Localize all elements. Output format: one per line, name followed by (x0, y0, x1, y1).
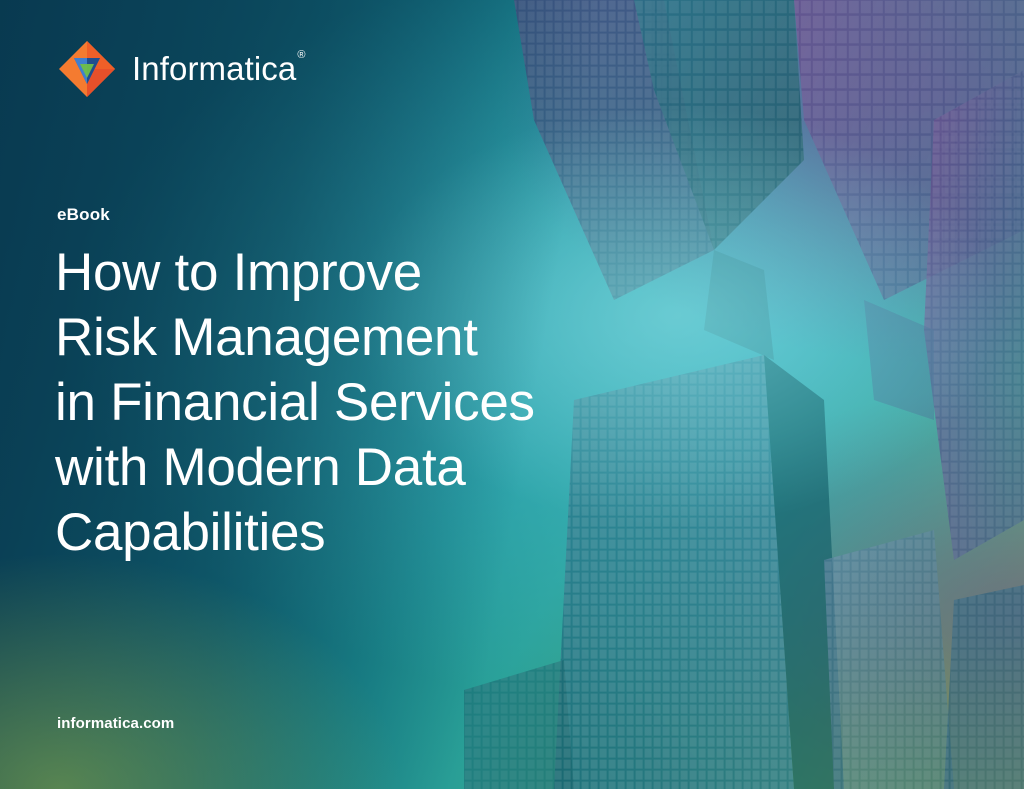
title-line-1: How to Improve (55, 240, 675, 305)
brand-logo: Informatica® (56, 38, 305, 100)
footer-website-url[interactable]: informatica.com (57, 715, 174, 732)
title-line-2: Risk Management (55, 305, 675, 370)
brand-name: Informatica® (132, 50, 305, 88)
page-title: How to Improve Risk Management in Financ… (55, 240, 675, 565)
title-line-5: Capabilities (55, 500, 675, 565)
document-type-label: eBook (57, 205, 110, 225)
ebook-cover-page: Informatica® eBook How to Improve Risk M… (0, 0, 1024, 789)
title-line-4: with Modern Data (55, 435, 675, 500)
informatica-diamond-logo-icon (56, 38, 118, 100)
registered-mark: ® (297, 49, 305, 61)
title-line-3: in Financial Services (55, 370, 675, 435)
brand-name-text: Informatica (132, 50, 296, 87)
